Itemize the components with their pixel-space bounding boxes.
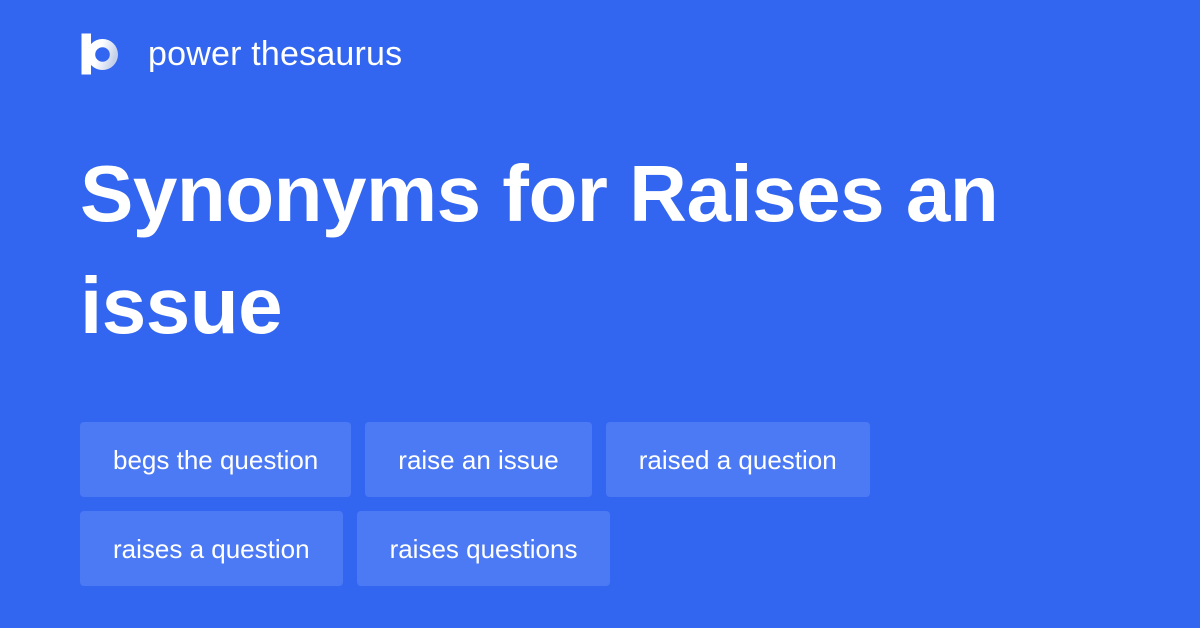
synonym-chip[interactable]: begs the question <box>80 422 351 497</box>
synonym-chip[interactable]: raises questions <box>357 511 611 586</box>
brand-name: power thesaurus <box>148 32 402 76</box>
page-title: Synonyms for Raises an issue <box>80 138 1080 362</box>
synonym-chip[interactable]: raised a question <box>606 422 870 497</box>
synonyms-share-card: power thesaurus Synonyms for Raises an i… <box>0 0 1200 628</box>
power-thesaurus-b-logo-icon <box>80 32 124 76</box>
brand-header[interactable]: power thesaurus <box>80 28 402 80</box>
synonym-chip[interactable]: raise an issue <box>365 422 591 497</box>
synonym-chip[interactable]: raises a question <box>80 511 343 586</box>
synonyms-list: begs the question raise an issue raised … <box>80 422 1120 586</box>
